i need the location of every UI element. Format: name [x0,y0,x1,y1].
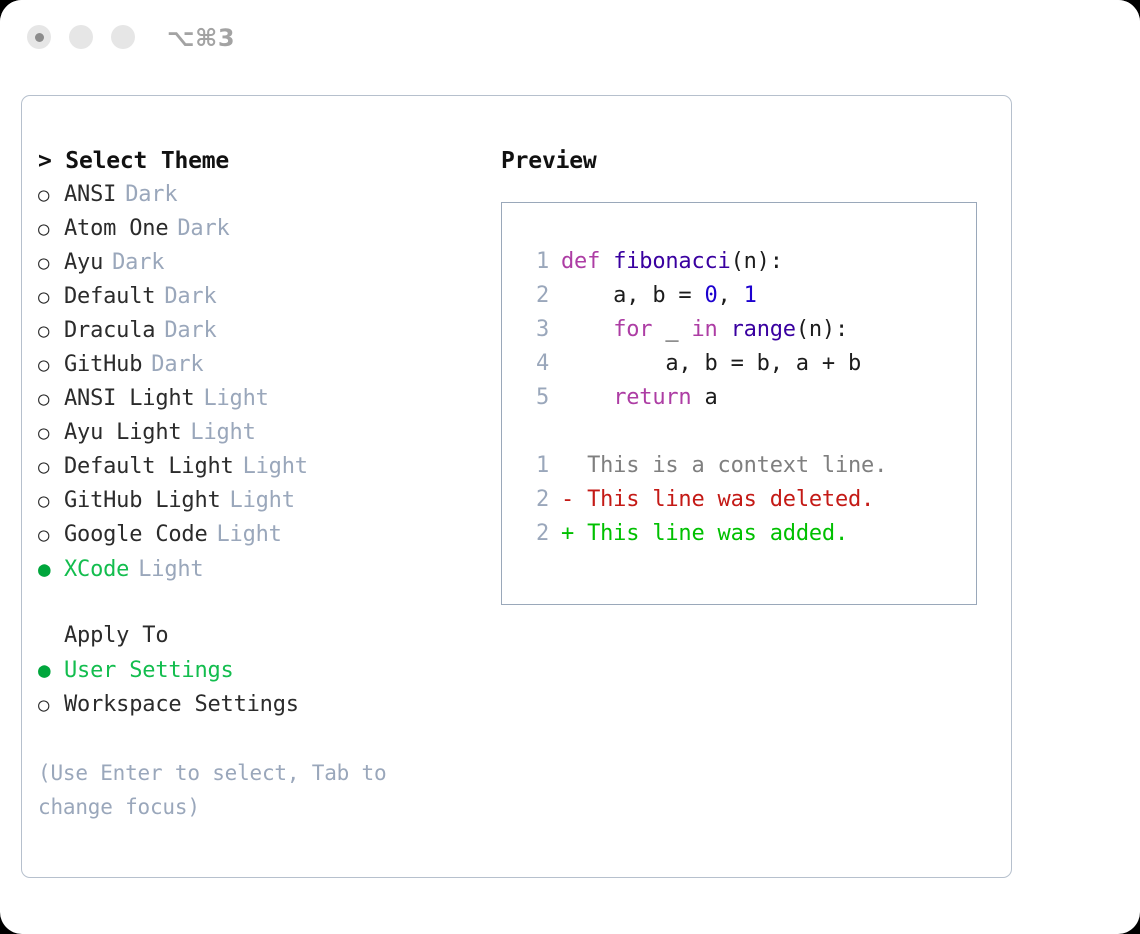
theme-option-label: Dracula [64,314,155,348]
radio-unselected-icon: ○ [38,178,64,212]
radio-unselected-icon: ○ [38,518,64,552]
theme-option-xcode[interactable]: ●XCodeLight [38,552,478,587]
traffic-light-group [27,25,135,49]
apply-to-option-workspace-settings[interactable]: ○Workspace Settings [38,688,478,722]
code-token-plain: , [718,283,744,308]
theme-option-label: XCode [64,553,129,587]
diff-line-text: This is a context line. [587,449,887,483]
theme-option-variant-tag: Dark [112,246,164,280]
code-token-kw: return [613,385,691,410]
code-line-number: 5 [519,381,549,415]
theme-option-github[interactable]: ○GitHubDark [38,348,478,382]
code-line-content: a, b = 0, 1 [561,279,757,313]
code-token-plain [600,249,613,274]
code-line: 1def fibonacci(n): [519,245,976,279]
code-line: 2 a, b = 0, 1 [519,279,976,313]
radio-unselected-icon: ○ [38,382,64,416]
code-sample: 1def fibonacci(n):2 a, b = 0, 13 for _ i… [519,245,976,415]
theme-option-google-code[interactable]: ○Google CodeLight [38,518,478,552]
code-token-plain: a, b = b, a + b [561,351,861,376]
apply-to-option-label: User Settings [64,654,234,688]
radio-unselected-icon: ○ [38,280,64,314]
diff-line-number: 2 [519,483,549,517]
theme-option-label: Default [64,280,155,314]
select-theme-header: > Select Theme [38,144,478,178]
radio-unselected-icon: ○ [38,246,64,280]
radio-unselected-icon: ○ [38,450,64,484]
code-line-number: 4 [519,347,549,381]
theme-option-variant-tag: Dark [164,314,216,348]
theme-picker-column: > Select Theme ○ANSIDark○Atom OneDark○Ay… [38,144,478,824]
radio-unselected-icon: ○ [38,314,64,348]
radio-selected-icon: ● [38,552,64,586]
theme-option-default-light[interactable]: ○Default LightLight [38,450,478,484]
section-spacer [38,587,478,619]
apply-to-option-list: ●User Settings○Workspace Settings [38,653,478,722]
radio-unselected-icon: ○ [38,416,64,450]
theme-option-label: ANSI [64,178,116,212]
theme-option-label: Ayu [64,246,103,280]
diff-line-number: 2 [519,517,549,551]
theme-option-variant-tag: Dark [177,212,229,246]
code-line-number: 2 [519,279,549,313]
preview-column: Preview 1def fibonacci(n):2 a, b = 0, 13… [501,144,991,605]
code-line-content: a, b = b, a + b [561,347,861,381]
theme-option-github-light[interactable]: ○GitHub LightLight [38,484,478,518]
title-bar: ⌥⌘3 [0,0,1140,78]
theme-option-ansi[interactable]: ○ANSIDark [38,178,478,212]
code-line: 3 for _ in range(n): [519,313,976,347]
app-window: ⌥⌘3 > Select Theme ○ANSIDark○Atom OneDar… [0,0,1140,934]
maximize-window-button[interactable] [111,25,135,49]
code-token-kw: def [561,249,600,274]
diff-marker [561,449,587,483]
code-token-fn: range [731,317,796,342]
theme-option-label: ANSI Light [64,382,194,416]
theme-option-list: ○ANSIDark○Atom OneDark○AyuDark○DefaultDa… [38,178,478,587]
theme-option-label: Default Light [64,450,234,484]
code-token-plain: (n): [796,317,848,342]
code-token-kw: in [691,317,717,342]
radio-selected-icon: ● [38,653,64,687]
code-line-content: return a [561,381,718,415]
diff-marker: + [561,517,587,551]
code-line-content: for _ in range(n): [561,313,848,347]
theme-option-label: Atom One [64,212,168,246]
diff-line-number: 1 [519,449,549,483]
theme-option-variant-tag: Light [203,382,268,416]
code-line-number: 3 [519,313,549,347]
code-token-plain: (n): [731,249,783,274]
code-token-plain [561,317,613,342]
code-token-plain: a [691,385,717,410]
main-panel: > Select Theme ○ANSIDark○Atom OneDark○Ay… [21,95,1012,878]
theme-option-ayu[interactable]: ○AyuDark [38,246,478,280]
radio-unselected-icon: ○ [38,484,64,518]
apply-to-option-label: Workspace Settings [64,688,299,722]
code-token-kw: for [613,317,652,342]
theme-option-variant-tag: Light [190,416,255,450]
code-token-num: 0 [705,283,718,308]
code-token-plain: a, b = [561,283,705,308]
apply-to-label: Apply To [38,619,478,653]
diff-line: 2- This line was deleted. [519,483,976,517]
theme-option-dracula[interactable]: ○DraculaDark [38,314,478,348]
radio-unselected-icon: ○ [38,688,64,722]
code-line-content: def fibonacci(n): [561,245,783,279]
diff-spacer [519,415,976,449]
theme-option-default[interactable]: ○DefaultDark [38,280,478,314]
theme-option-label: GitHub [64,348,142,382]
code-token-plain [718,317,731,342]
code-token-plain [561,385,613,410]
radio-unselected-icon: ○ [38,348,64,382]
theme-option-label: Google Code [64,518,208,552]
theme-option-variant-tag: Dark [125,178,177,212]
theme-option-variant-tag: Light [217,518,282,552]
theme-option-label: GitHub Light [64,484,221,518]
theme-option-ayu-light[interactable]: ○Ayu LightLight [38,416,478,450]
diff-line-text: This line was deleted. [587,483,874,517]
keyboard-shortcut-label: ⌥⌘3 [167,24,235,52]
theme-option-variant-tag: Dark [164,280,216,314]
apply-to-option-user-settings[interactable]: ●User Settings [38,653,478,688]
code-line: 4 a, b = b, a + b [519,347,976,381]
preview-box: 1def fibonacci(n):2 a, b = 0, 13 for _ i… [501,202,977,605]
theme-option-ansi-light[interactable]: ○ANSI LightLight [38,382,478,416]
theme-option-variant-tag: Light [230,484,295,518]
code-token-plain: _ [652,317,691,342]
theme-option-variant-tag: Light [138,553,203,587]
theme-option-atom-one[interactable]: ○Atom OneDark [38,212,478,246]
close-window-button[interactable] [27,25,51,49]
code-token-num: 1 [744,283,757,308]
code-line-number: 1 [519,245,549,279]
theme-option-variant-tag: Dark [151,348,203,382]
code-line: 5 return a [519,381,976,415]
preview-title: Preview [501,144,991,178]
diff-sample: 1 This is a context line.2- This line wa… [519,449,976,551]
diff-line: 2+ This line was added. [519,517,976,551]
diff-marker: - [561,483,587,517]
minimize-window-button[interactable] [69,25,93,49]
theme-option-variant-tag: Light [243,450,308,484]
diff-line: 1 This is a context line. [519,449,976,483]
code-token-fn: fibonacci [613,249,730,274]
theme-option-label: Ayu Light [64,416,181,450]
keyboard-hint-text: (Use Enter to select, Tab to change focu… [38,756,438,824]
radio-unselected-icon: ○ [38,212,64,246]
diff-line-text: This line was added. [587,517,848,551]
close-icon [35,33,44,42]
